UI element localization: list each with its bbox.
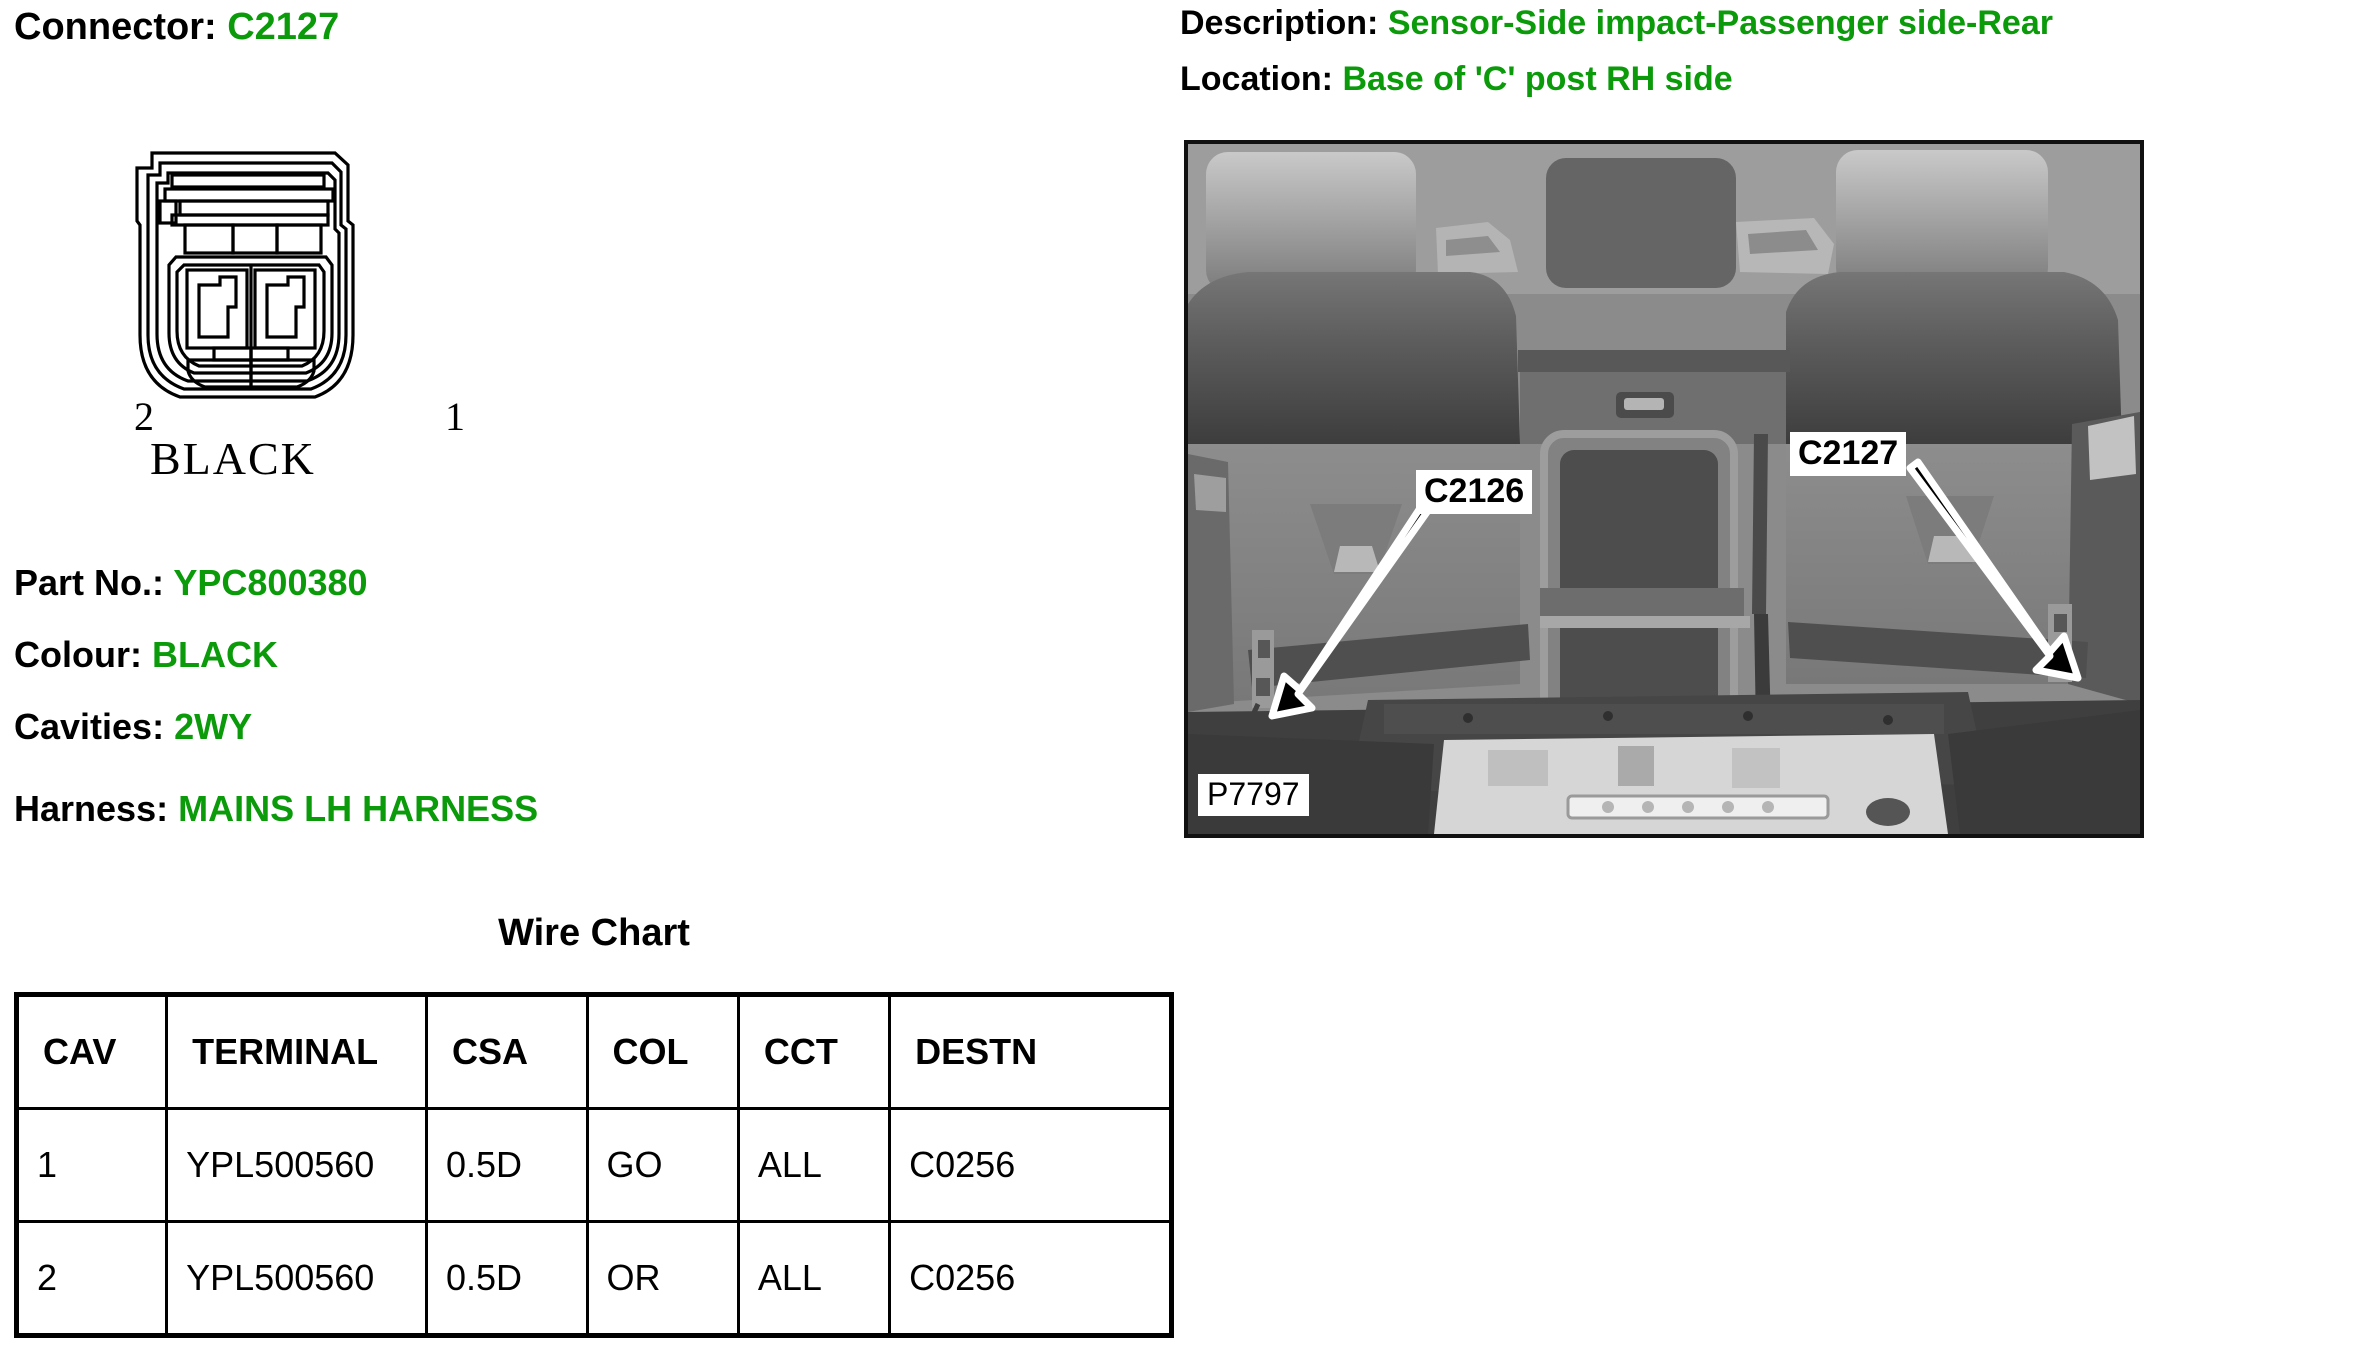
colour-value: BLACK [152, 634, 278, 675]
callout-label-c2127: C2127 [1790, 432, 1906, 476]
connector-header: Connector: C2127 [14, 8, 339, 46]
cell-destn: C0256 [890, 1222, 1172, 1336]
cell-csa: 0.5D [427, 1222, 588, 1336]
location-photo-graphic [1188, 144, 2140, 834]
column-header-destn: DESTN [890, 995, 1172, 1109]
table-row: 1 YPL500560 0.5D GO ALL C0256 [17, 1109, 1172, 1222]
cell-destn: C0256 [890, 1109, 1172, 1222]
column-header-cct: CCT [738, 995, 889, 1109]
colour-row: Colour: BLACK [14, 637, 278, 673]
wire-chart-table: CAV TERMINAL CSA COL CCT DESTN 1 YPL5005… [14, 992, 1174, 1338]
colour-label: Colour: [14, 634, 152, 675]
column-header-csa: CSA [427, 995, 588, 1109]
cell-col: OR [587, 1222, 738, 1336]
part-no-label: Part No.: [14, 562, 173, 603]
harness-row: Harness: MAINS LH HARNESS [14, 791, 538, 827]
cell-terminal: YPL500560 [167, 1109, 427, 1222]
location-value: Base of 'C' post RH side [1342, 60, 1732, 98]
column-header-terminal: TERMINAL [167, 995, 427, 1109]
connector-value: C2127 [227, 6, 339, 48]
wire-chart-title: Wire Chart [14, 912, 1174, 955]
cavities-row: Cavities: 2WY [14, 709, 252, 745]
description-label: Description: [1180, 4, 1388, 42]
connector-label: Connector: [14, 6, 227, 48]
harness-value: MAINS LH HARNESS [178, 788, 538, 829]
cell-cav: 1 [17, 1109, 167, 1222]
connector-colour-caption: BLACK [150, 432, 316, 485]
cavities-label: Cavities: [14, 706, 174, 747]
callout-label-c2126: C2126 [1416, 470, 1532, 514]
table-row: 2 YPL500560 0.5D OR ALL C0256 [17, 1222, 1172, 1336]
harness-label: Harness: [14, 788, 178, 829]
connector-pin-1-number: 1 [445, 393, 465, 440]
part-no-value: YPC800380 [173, 562, 367, 603]
table-header-row: CAV TERMINAL CSA COL CCT DESTN [17, 995, 1172, 1109]
cell-csa: 0.5D [427, 1109, 588, 1222]
location-label: Location: [1180, 60, 1342, 98]
photo-reference-tag: P7797 [1198, 774, 1309, 816]
cell-terminal: YPL500560 [167, 1222, 427, 1336]
description-header: Description: Sensor-Side impact-Passenge… [1180, 6, 2053, 40]
cell-cct: ALL [738, 1109, 889, 1222]
column-header-cav: CAV [17, 995, 167, 1109]
cell-col: GO [587, 1109, 738, 1222]
part-no-row: Part No.: YPC800380 [14, 565, 368, 601]
cavities-value: 2WY [174, 706, 252, 747]
description-value: Sensor-Side impact-Passenger side-Rear [1388, 4, 2053, 42]
cell-cav: 2 [17, 1222, 167, 1336]
location-photo: C2126 C2127 P7797 [1184, 140, 2144, 838]
cell-cct: ALL [738, 1222, 889, 1336]
column-header-col: COL [587, 995, 738, 1109]
location-header: Location: Base of 'C' post RH side [1180, 62, 1733, 96]
